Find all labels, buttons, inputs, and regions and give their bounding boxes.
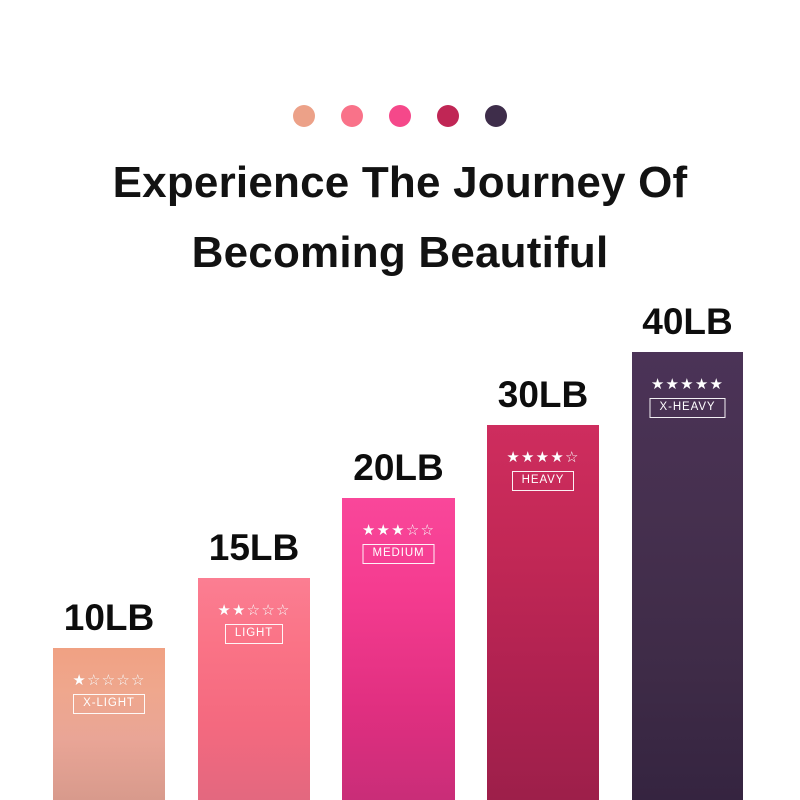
star-rating-icon: ★★★☆☆ <box>342 522 455 539</box>
bar-group-x-heavy[interactable]: 40LB★★★★★X-HEAVY <box>632 352 743 800</box>
tier-badge: X-LIGHT <box>73 694 145 714</box>
star-rating-icon: ★★☆☆☆ <box>198 602 310 619</box>
bar-rating-block: ★★☆☆☆LIGHT <box>198 602 310 644</box>
bar-group-x-light[interactable]: 10LB★☆☆☆☆X-LIGHT <box>53 648 165 800</box>
tier-badge: HEAVY <box>512 471 575 491</box>
bar-weight-label: 15LB <box>209 529 299 566</box>
tier-badge: LIGHT <box>225 624 283 644</box>
star-rating-icon: ★★★★★ <box>632 376 743 393</box>
bar-rating-block: ★★★★☆HEAVY <box>487 449 599 491</box>
tier-badge: MEDIUM <box>362 544 434 564</box>
star-rating-icon: ★★★★☆ <box>487 449 599 466</box>
tier-badge: X-HEAVY <box>650 398 726 418</box>
bar-group-medium[interactable]: 20LB★★★☆☆MEDIUM <box>342 498 455 800</box>
bar-rating-block: ★★★☆☆MEDIUM <box>342 522 455 564</box>
star-rating-icon: ★☆☆☆☆ <box>53 672 165 689</box>
bar-weight-label: 10LB <box>64 599 154 636</box>
bar-weight-label: 40LB <box>642 303 732 340</box>
bar-column[interactable] <box>632 352 743 800</box>
bar-rating-block: ★☆☆☆☆X-LIGHT <box>53 672 165 714</box>
resistance-bar-chart: 10LB★☆☆☆☆X-LIGHT15LB★★☆☆☆LIGHT20LB★★★☆☆M… <box>0 0 800 800</box>
bar-column[interactable] <box>53 648 165 800</box>
bar-rating-block: ★★★★★X-HEAVY <box>632 376 743 418</box>
bar-weight-label: 20LB <box>353 449 443 486</box>
bar-group-heavy[interactable]: 30LB★★★★☆HEAVY <box>487 425 599 800</box>
bar-weight-label: 30LB <box>498 376 588 413</box>
bar-group-light[interactable]: 15LB★★☆☆☆LIGHT <box>198 578 310 800</box>
poster-canvas: Experience The Journey Of Becoming Beaut… <box>0 0 800 800</box>
